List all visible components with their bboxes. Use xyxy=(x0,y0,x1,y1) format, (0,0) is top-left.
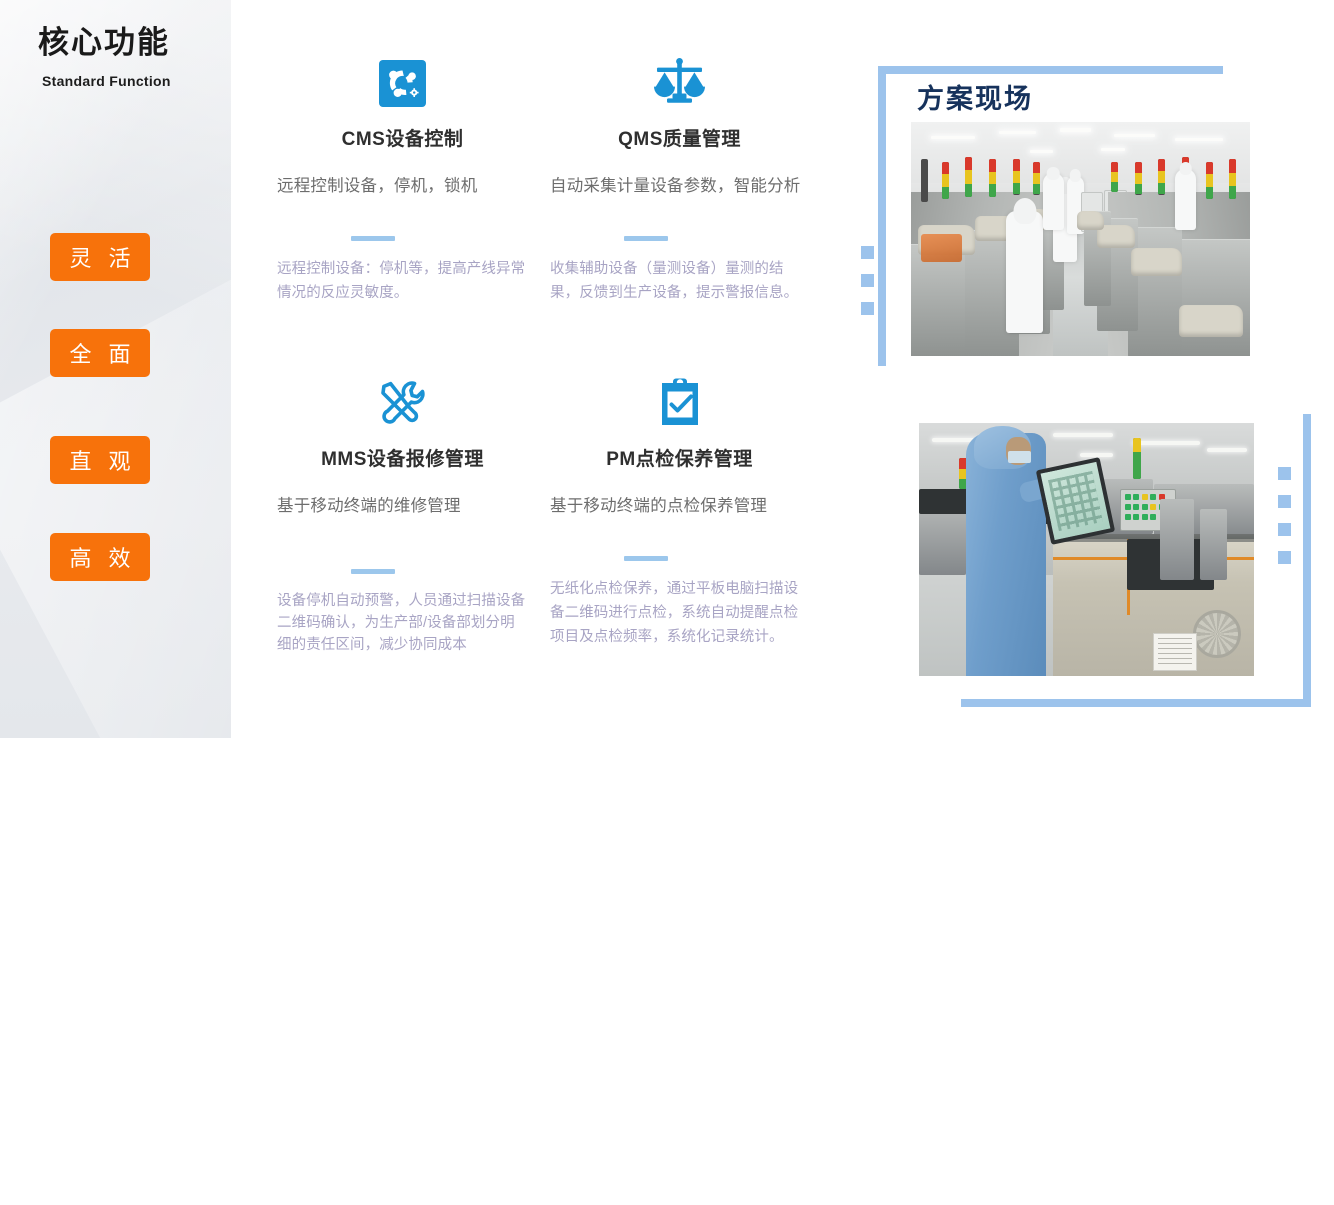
feature-divider xyxy=(624,556,668,561)
feature-detail: 远程控制设备：停机等，提高产线异常情况的反应灵敏度。 xyxy=(265,257,540,305)
bracket-bottom-decoration xyxy=(961,699,1311,707)
feature-summary: 远程控制设备，停机，锁机 xyxy=(265,172,540,200)
dot xyxy=(861,246,874,259)
page-title: 核心功能 xyxy=(38,17,170,62)
device-control-icon xyxy=(265,52,540,114)
feature-detail: 无纸化点检保养，通过平板电脑扫描设备二维码进行点检，系统自动提醒点检项目及点检频… xyxy=(542,577,817,649)
dot xyxy=(861,274,874,287)
operator-tablet-inspection-photo xyxy=(919,423,1254,676)
wrench-screwdriver-icon xyxy=(265,372,540,434)
feature-divider xyxy=(351,236,395,241)
bracket-left-decoration xyxy=(878,66,886,366)
feature-card-qms[interactable]: QMS质量管理 自动采集计量设备参数，智能分析 收集辅助设备（量测设备）量测的结… xyxy=(542,52,817,305)
dot xyxy=(1278,467,1291,480)
sidebar: 核心功能 Standard Function 灵 活 全 面 直 观 高 效 xyxy=(0,0,231,738)
feature-card-cms[interactable]: CMS设备控制 远程控制设备，停机，锁机 远程控制设备：停机等，提高产线异常情况… xyxy=(265,52,540,305)
bracket-top-decoration xyxy=(878,66,1223,74)
feature-title: MMS设备报修管理 xyxy=(265,444,540,471)
feature-title: CMS设备控制 xyxy=(265,124,540,151)
showcase-title: 方案现场 xyxy=(917,77,1033,116)
cleanroom-microscope-line-photo xyxy=(911,122,1250,356)
feature-detail: 收集辅助设备（量测设备）量测的结果，反馈到生产设备，提示警报信息。 xyxy=(542,257,817,305)
feature-title: QMS质量管理 xyxy=(542,124,817,151)
sidebar-pill-intuitive[interactable]: 直 观 xyxy=(50,436,150,484)
feature-card-mms[interactable]: MMS设备报修管理 基于移动终端的维修管理 设备停机自动预警，人员通过扫描设备二… xyxy=(265,372,540,656)
feature-divider xyxy=(351,569,395,574)
page-subtitle: Standard Function xyxy=(42,73,171,89)
dot xyxy=(1278,495,1291,508)
dot xyxy=(1278,551,1291,564)
sidebar-pill-comprehensive[interactable]: 全 面 xyxy=(50,329,150,377)
feature-summary: 自动采集计量设备参数，智能分析 xyxy=(542,172,817,200)
clipboard-check-icon xyxy=(542,372,817,434)
dot-decoration-right xyxy=(1278,467,1334,1205)
feature-detail: 设备停机自动预警，人员通过扫描设备二维码确认，为生产部/设备部划分明细的责任区间… xyxy=(265,590,540,656)
dot-decoration-left xyxy=(861,246,874,330)
feature-grid: CMS设备控制 远程控制设备，停机，锁机 远程控制设备：停机等，提高产线异常情况… xyxy=(231,0,851,738)
dot xyxy=(1278,523,1291,536)
feature-divider xyxy=(624,236,668,241)
slide-canvas: 核心功能 Standard Function 灵 活 全 面 直 观 高 效 xyxy=(0,0,1334,738)
feature-summary: 基于移动终端的维修管理 xyxy=(265,492,540,520)
dot xyxy=(861,302,874,315)
feature-title: PM点检保养管理 xyxy=(542,444,817,471)
balance-scale-icon xyxy=(542,52,817,114)
sidebar-pill-efficient[interactable]: 高 效 xyxy=(50,533,150,581)
feature-summary: 基于移动终端的点检保养管理 xyxy=(542,492,817,520)
feature-card-pm[interactable]: PM点检保养管理 基于移动终端的点检保养管理 无纸化点检保养，通过平板电脑扫描设… xyxy=(542,372,817,649)
showcase-panel: 方案现场 xyxy=(851,0,1334,738)
sidebar-pill-flexible[interactable]: 灵 活 xyxy=(50,233,150,281)
